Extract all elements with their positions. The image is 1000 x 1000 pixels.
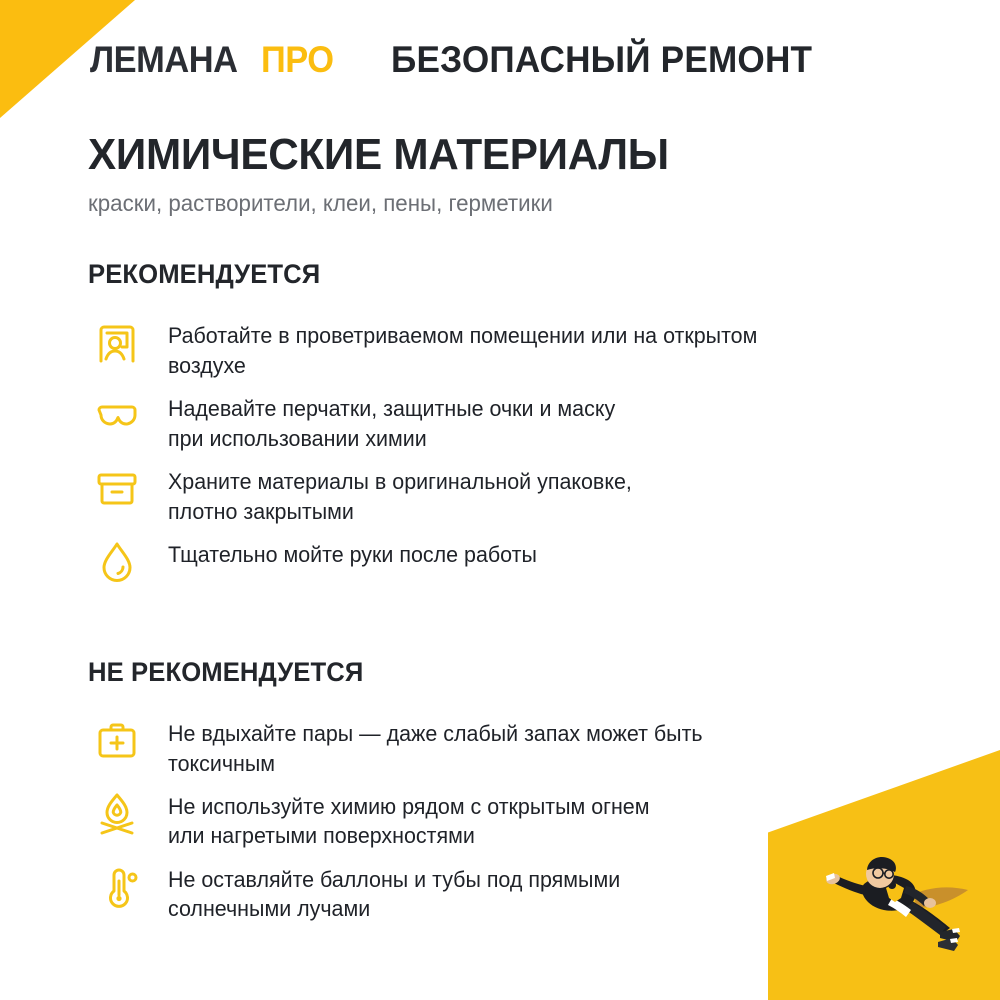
brand-logo-primary: ЛЕМАНА: [90, 41, 238, 78]
not-recommended-item-list: Не вдыхайте пары — даже слабый запах мож…: [88, 712, 908, 931]
list-item-text: Храните материалы в оригинальной упаковк…: [168, 460, 890, 526]
list-item-text: Не вдыхайте пары — даже слабый запах мож…: [168, 712, 890, 778]
poster-header: ЛЕМАНА ПРО БЕЗОПАСНЫЙ РЕМОНТ: [0, 0, 1000, 118]
first-aid-kit-icon: [88, 712, 146, 770]
thermometer-sun-icon: [88, 858, 146, 916]
safety-goggles-icon: [88, 387, 146, 445]
list-item-text: Не оставляйте баллоны и тубы под прямыми…: [168, 858, 890, 924]
brand-logo: ЛЕМАНА ПРО: [90, 41, 339, 78]
list-item: Храните материалы в оригинальной упаковк…: [88, 460, 908, 526]
recommended-item-list: Работайте в проветриваемом помещении или…: [88, 314, 908, 598]
page-subtitle: краски, растворители, клеи, пены, гермет…: [88, 190, 883, 218]
list-item: Не вдыхайте пары — даже слабый запах мож…: [88, 712, 908, 778]
list-item-text: Не используйте химию рядом с открытым ог…: [168, 785, 890, 851]
list-item: Не используйте химию рядом с открытым ог…: [88, 785, 908, 851]
section-heading-recommended: РЕКОМЕНДУЕТСЯ: [88, 261, 867, 288]
poster: ЛЕМАНА ПРО БЕЗОПАСНЫЙ РЕМОНТ ХИМИЧЕСКИЕ …: [0, 0, 1000, 1000]
page-title: ХИМИЧЕСКИЕ МАТЕРИАЛЫ: [88, 132, 875, 179]
section-recommended: РЕКОМЕНДУЕТСЯ Работайте в проветриваемом…: [88, 261, 908, 598]
header-title: БЕЗОПАСНЫЙ РЕМОНТ: [391, 41, 812, 78]
list-item: Тщательно мойте руки после работы: [88, 533, 908, 591]
list-item: Работайте в проветриваемом помещении или…: [88, 314, 908, 380]
list-item: Надевайте перчатки, защитные очки и маск…: [88, 387, 908, 453]
list-item: Не оставляйте баллоны и тубы под прямыми…: [88, 858, 908, 924]
water-drop-icon: [88, 533, 146, 591]
ventilated-room-icon: [88, 314, 146, 372]
storage-box-icon: [88, 460, 146, 518]
section-heading-not-recommended: НЕ РЕКОМЕНДУЕТСЯ: [88, 659, 867, 686]
poster-content: ХИМИЧЕСКИЕ МАТЕРИАЛЫ краски, растворител…: [88, 132, 908, 931]
list-item-text: Надевайте перчатки, защитные очки и маск…: [168, 387, 890, 453]
brand-logo-accent: ПРО: [261, 41, 334, 78]
list-item-text: Работайте в проветриваемом помещении или…: [168, 314, 890, 380]
list-item-text: Тщательно мойте руки после работы: [168, 533, 890, 569]
campfire-icon: [88, 785, 146, 843]
section-not-recommended: НЕ РЕКОМЕНДУЕТСЯ Не вдыхайте пары — даже…: [88, 659, 908, 931]
